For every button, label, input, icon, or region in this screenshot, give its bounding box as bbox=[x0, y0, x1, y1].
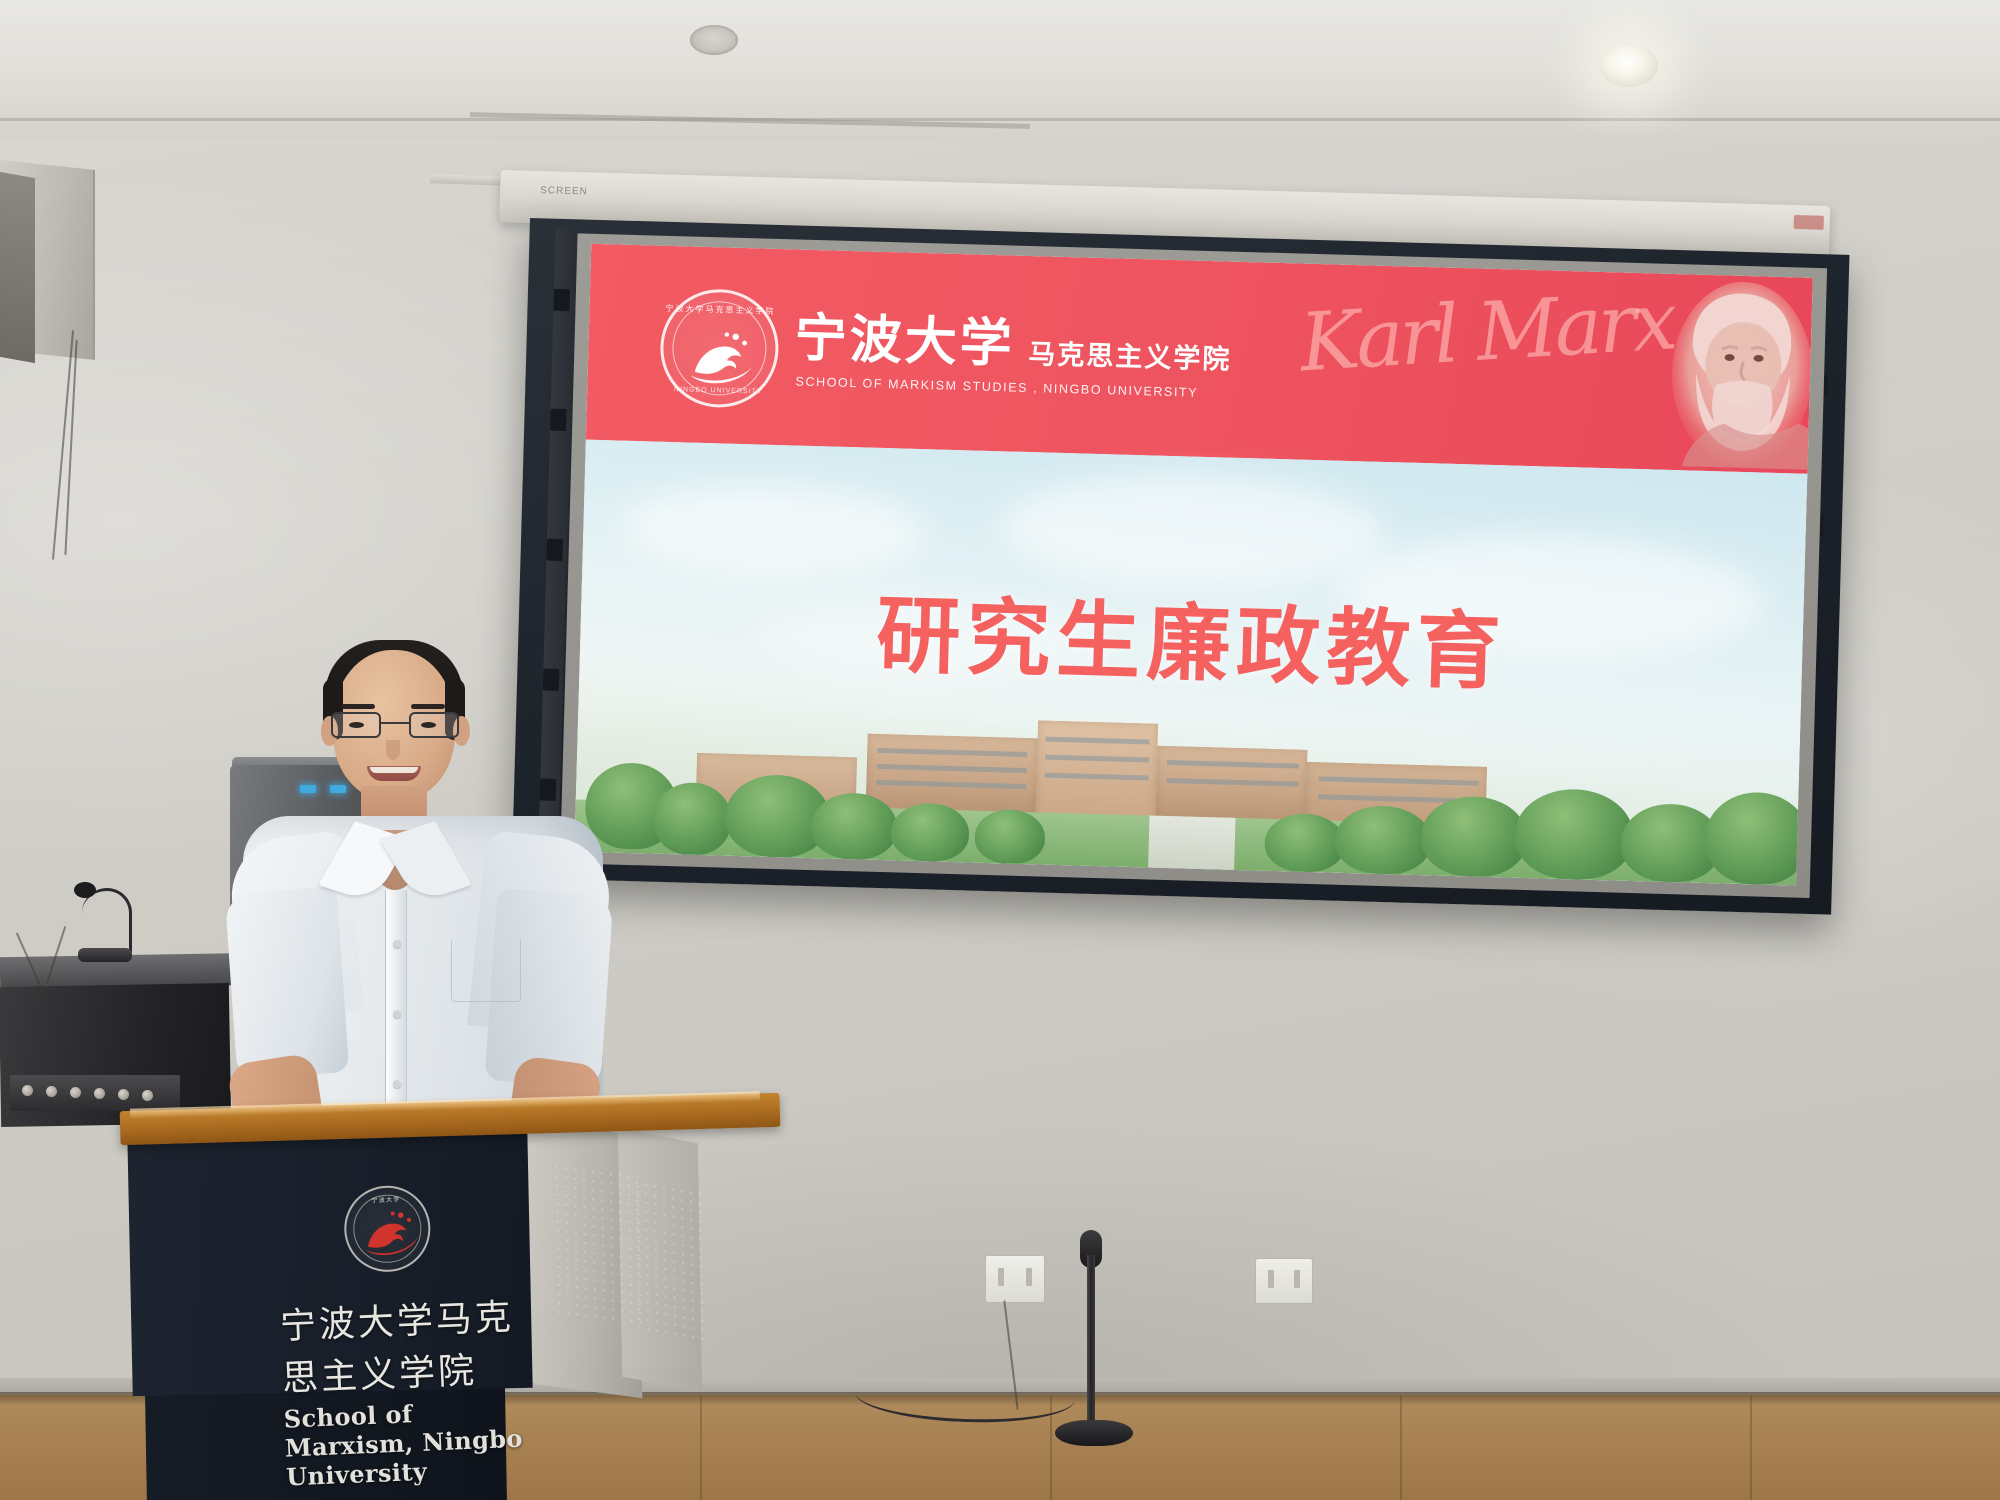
lecture-hall-photo: SCREEN Karl Marx bbox=[0, 0, 2000, 1500]
lectern-sign-chinese: 宁波大学马克思主义学院 bbox=[279, 1287, 533, 1401]
ningbo-university-seal-icon: 宁波大学马克思主义学院 NINGBO UNIVERSITY bbox=[659, 288, 780, 409]
floor-plank bbox=[1750, 1395, 1752, 1500]
eyebrow bbox=[411, 704, 445, 709]
seal-arc-top: 宁波大学马克思主义学院 bbox=[664, 303, 776, 317]
ceiling-smoke-detector-icon bbox=[690, 25, 738, 55]
lectern: 宁波大学 宁波大学马克思主义学院 School of Marxism, Ning… bbox=[0, 1100, 800, 1500]
seal-bird-wave-icon bbox=[688, 326, 756, 386]
slide-logo-row: 宁波大学马克思主义学院 NINGBO UNIVERSITY 宁波大学 bbox=[659, 288, 1233, 422]
emblem-bird-wave-icon bbox=[361, 1207, 419, 1257]
eye bbox=[349, 722, 364, 728]
ningbo-university-emblem-icon: 宁波大学 bbox=[343, 1184, 433, 1274]
wall-speaker-side bbox=[0, 172, 35, 363]
shirt-button bbox=[393, 1080, 401, 1088]
floor-plank bbox=[1400, 1395, 1402, 1500]
teeth bbox=[370, 767, 418, 773]
floor-microphone-base bbox=[1055, 1420, 1133, 1446]
mixer-knob[interactable] bbox=[94, 1088, 105, 1099]
screen-clip bbox=[553, 289, 570, 311]
mixer-knob[interactable] bbox=[22, 1085, 33, 1096]
table-microphone-base bbox=[78, 948, 132, 962]
eye bbox=[421, 722, 436, 728]
shirt-pocket bbox=[451, 940, 521, 1002]
shirt-button bbox=[393, 1010, 401, 1018]
karl-marx-portrait-icon bbox=[1664, 276, 1813, 470]
slide-header-band: Karl Marx bbox=[586, 244, 1813, 474]
logo-english-name: SCHOOL OF MARKISM STUDIES , NINGBO UNIVE… bbox=[795, 374, 1230, 400]
table-microphone-stem bbox=[82, 888, 132, 952]
lectern-front-panel: 宁波大学 宁波大学马克思主义学院 School of Marxism, Ning… bbox=[127, 1128, 532, 1396]
mixer-knob[interactable] bbox=[118, 1089, 129, 1100]
shirt-button bbox=[393, 940, 401, 948]
karl-marx-signature: Karl Marx bbox=[1298, 276, 1645, 416]
mixer-knob[interactable] bbox=[46, 1086, 57, 1097]
floor-microphone-pole bbox=[1087, 1255, 1095, 1425]
slide-logo-text: 宁波大学 马克思主义学院 SCHOOL OF MARKISM STUDIES ,… bbox=[793, 312, 1232, 400]
ceiling-light-icon bbox=[1600, 45, 1658, 87]
tree bbox=[974, 809, 1045, 865]
lectern-sign-english: School of Marxism, Ningbo University bbox=[283, 1394, 536, 1491]
housing-endcap bbox=[1794, 215, 1824, 230]
lectern-speaker-vent bbox=[634, 1180, 707, 1343]
mixer-knob[interactable] bbox=[70, 1087, 81, 1098]
projected-slide: Karl Marx bbox=[574, 244, 1812, 886]
wall-socket[interactable] bbox=[1255, 1258, 1313, 1304]
wall-socket[interactable] bbox=[985, 1255, 1045, 1303]
slide-body: 研究生廉政教育 bbox=[574, 440, 1807, 886]
screen-clip bbox=[550, 409, 567, 431]
shirt-sleeve bbox=[225, 886, 350, 1079]
projection-screen: Karl Marx bbox=[512, 218, 1850, 915]
table-microphone-head bbox=[74, 882, 96, 898]
eyebrow bbox=[341, 704, 375, 709]
screen-clip bbox=[546, 539, 563, 561]
housing-label: SCREEN bbox=[540, 185, 588, 197]
slide-logo-cn: 宁波大学 马克思主义学院 bbox=[794, 312, 1232, 376]
lectern-name-plate: 宁波大学马克思主义学院 School of Marxism, Ningbo Un… bbox=[279, 1287, 537, 1491]
campus-plaza bbox=[1148, 816, 1235, 870]
emblem-arc-text: 宁波大学 bbox=[345, 1193, 427, 1205]
ceiling-seam bbox=[0, 118, 2000, 121]
logo-university-name: 宁波大学 bbox=[794, 312, 1015, 370]
nose bbox=[386, 740, 400, 760]
logo-school-name: 马克思主义学院 bbox=[1028, 341, 1232, 374]
lectern-speaker-vent bbox=[554, 1164, 647, 1325]
glasses-bridge bbox=[381, 722, 409, 724]
tree bbox=[652, 782, 732, 856]
